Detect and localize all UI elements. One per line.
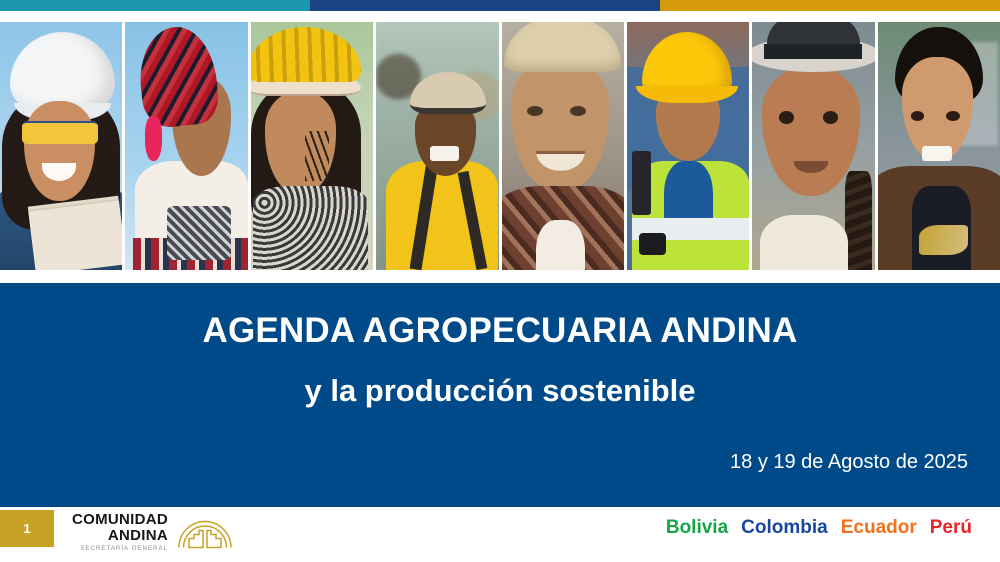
title-band: AGENDA AGROPECUARIA ANDINA y la producci… — [0, 283, 1000, 507]
slide-footer: 1 COMUNIDAD ANDINA SECRETARÍA GENERAL Bo… — [0, 507, 1000, 562]
top-color-bar — [0, 0, 1000, 11]
page-title: AGENDA AGROPECUARIA ANDINA — [0, 311, 1000, 351]
photo-panel-smiling-man — [376, 22, 498, 270]
photo-panel-construction-worker — [627, 22, 749, 270]
member-countries: Bolivia Colombia Ecuador Perú — [666, 517, 972, 539]
topbar-segment-gold — [660, 0, 1000, 11]
photo-panel-young-man — [878, 22, 1000, 270]
country-peru: Perú — [930, 517, 972, 539]
country-colombia: Colombia — [741, 517, 828, 539]
andean-arch-icon — [177, 515, 233, 549]
topbar-segment-blue — [310, 0, 660, 11]
logo-line-secretaria-general: SECRETARÍA GENERAL — [80, 546, 168, 552]
logo-line-comunidad: COMUNIDAD — [72, 512, 168, 527]
country-bolivia: Bolivia — [666, 517, 728, 539]
photo-panel-elderly-woman — [502, 22, 624, 270]
logo-wordmark: COMUNIDAD ANDINA SECRETARÍA GENERAL — [72, 512, 168, 552]
topbar-segment-teal — [0, 0, 310, 11]
photo-panel-indigenous-woman — [251, 22, 373, 270]
presentation-slide: AGENDA AGROPECUARIA ANDINA y la producci… — [0, 0, 1000, 562]
page-number-badge: 1 — [0, 510, 54, 547]
photo-panel-girl — [752, 22, 874, 270]
photo-strip — [0, 22, 1000, 270]
logo-line-andina: ANDINA — [108, 528, 168, 543]
photo-panel-weaver — [125, 22, 247, 270]
country-ecuador: Ecuador — [841, 517, 917, 539]
event-date: 18 y 19 de Agosto de 2025 — [730, 451, 968, 474]
comunidad-andina-logo: COMUNIDAD ANDINA SECRETARÍA GENERAL — [72, 510, 233, 554]
page-subtitle: y la producción sostenible — [0, 373, 1000, 409]
photo-panel-engineer — [0, 22, 122, 270]
